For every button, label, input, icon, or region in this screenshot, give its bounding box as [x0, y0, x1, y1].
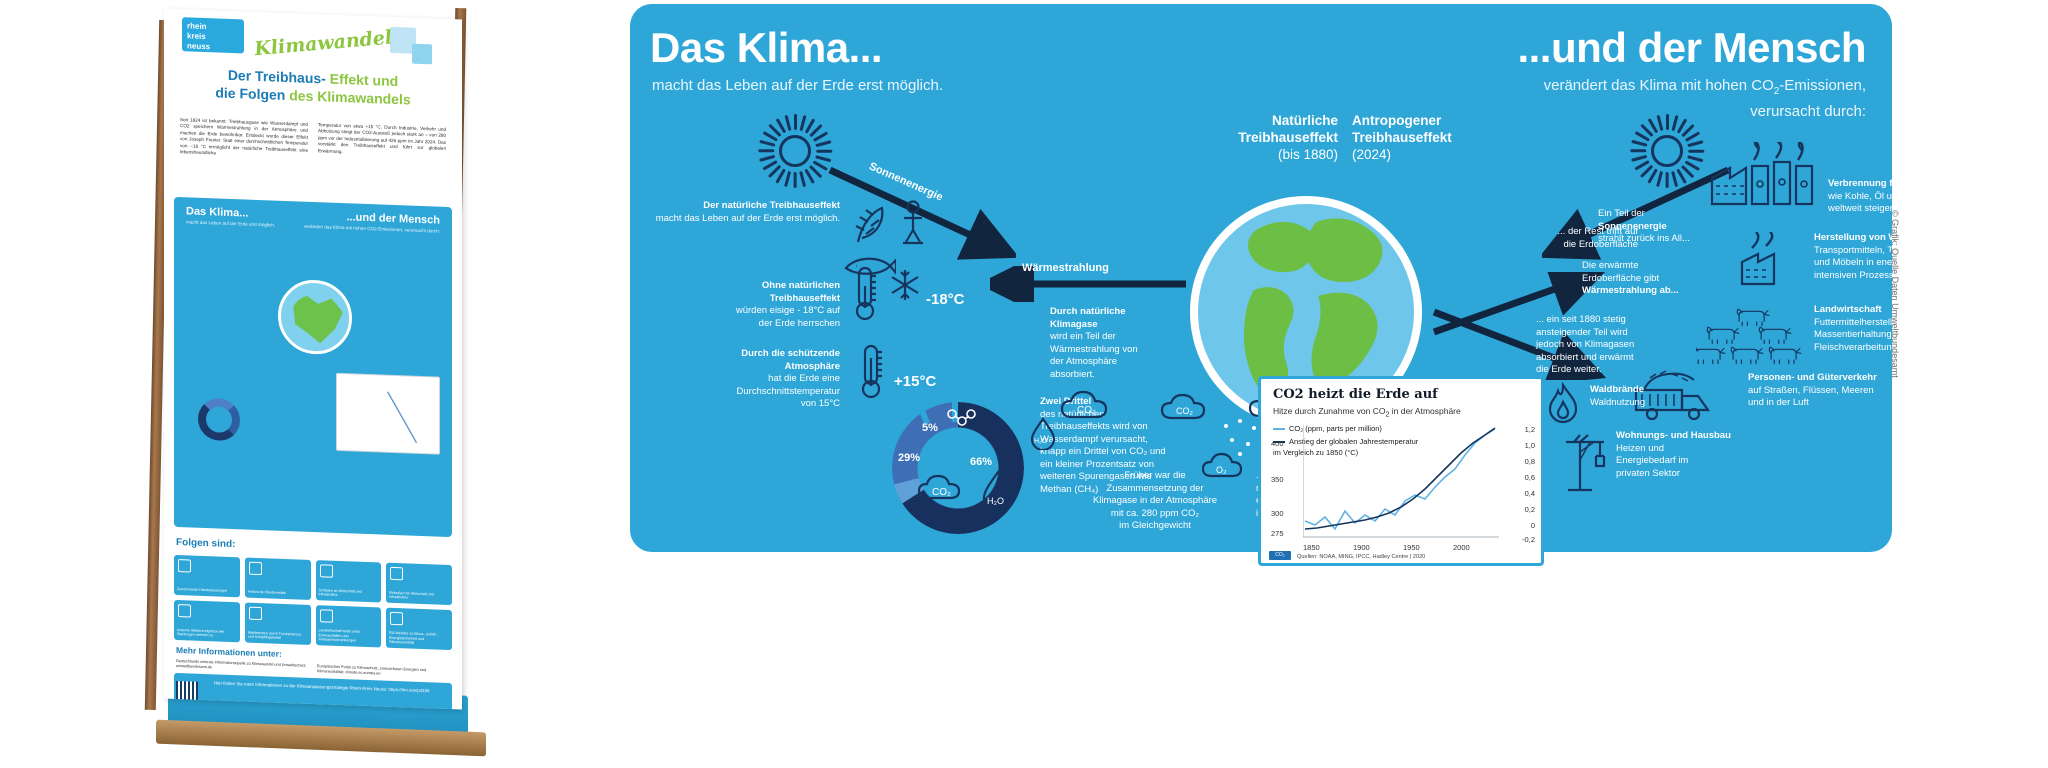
banner-tile: Verlust der Biodiversität — [245, 557, 311, 599]
t-nat-rest: macht das Leben auf der Erde erst möglic… — [656, 213, 840, 224]
source-line: Futtermittelherstellung und — [1814, 317, 1926, 328]
text-earlier-balance: Früher war die Zusammensetzung der Klima… — [1070, 470, 1240, 533]
cap-nat-2: Treibhauseffekt — [1238, 130, 1338, 145]
chart-subtitle-a: Hitze durch Zunahme von CO — [1273, 406, 1385, 416]
sub-left-text: macht das Leben auf der Erde erst möglic… — [652, 77, 943, 94]
banner-title-part4: des Klimawandels — [289, 87, 410, 107]
banner-panel-sub-left: macht das Leben auf der Erde erst möglic… — [186, 219, 275, 228]
banner-panel-heading-right: ...und der Mensch — [346, 211, 440, 226]
chart-plot — [1303, 425, 1499, 539]
source-line: Heizen und — [1616, 443, 1664, 454]
banner-tile: EU-Website zu Klima-, politik-, Energies… — [386, 608, 452, 650]
rhein-kreis-neuss-logo: rhein kreis neuss — [182, 17, 244, 53]
rollup-banner-photo: rhein kreis neuss Klimawandel Der Treibh… — [60, 0, 600, 768]
t-fr-3: Klimagase in der Atmosphäre — [1093, 495, 1217, 506]
chart-subtitle: Hitze durch Zunahme von CO2 in der Atmos… — [1273, 406, 1461, 419]
t-fr-5: im Gleichgewicht — [1119, 520, 1191, 531]
tile-icon — [390, 567, 403, 580]
ytick-right-0: 0 — [1531, 521, 1535, 530]
logo-line-3: neuss — [187, 41, 239, 53]
banner-title-part2: Effekt und — [330, 71, 398, 90]
source-line: wie Kohle, Öl und Gas für den — [1828, 191, 1955, 202]
t-atm-r3: von 15°C — [801, 398, 840, 409]
banner-tiles: Zunehmende Hitzebelastungen Verlust der … — [174, 555, 452, 650]
crane-icon — [1560, 432, 1610, 499]
sub-right-b: -Emissionen, — [1779, 77, 1866, 94]
infographic-sub-right: verändert das Klima mit hohen CO2-Emissi… — [1544, 76, 1866, 122]
t-atm-b2: Atmosphäre — [785, 361, 840, 372]
t-kg-b2: Klimagase — [1050, 319, 1098, 330]
banner-title: Der Treibhaus- Effekt und die Folgen des… — [182, 64, 444, 110]
donut-label-66: 66% — [970, 456, 992, 468]
donut-label-5: 5% — [922, 422, 938, 434]
t-ohne-b2: Treibhauseffekt — [770, 293, 840, 304]
thermometer-cold-icon — [852, 266, 878, 327]
banner-tile: extreme Wetterereignisse wie Starkregen … — [174, 600, 240, 642]
cattle-icon — [1696, 304, 1804, 369]
legend-swatch-co2 — [1273, 428, 1285, 430]
banner-title-part3: die Folgen — [215, 84, 285, 103]
t-s1-1: ... ein seit 1880 stetig — [1536, 314, 1626, 325]
text-warmed-surface: Die erwärmte Erdoberfläche gibt Wärmestr… — [1582, 260, 1732, 298]
banner-tile: Schäden an Wirtschaft und Infrastruktur — [316, 560, 382, 602]
ytick-right-1-0: 1,0 — [1525, 441, 1535, 450]
cap-ant-3: (2024) — [1352, 147, 1391, 162]
banner-tile: Waldsterben durch Trockenstress und Schä… — [245, 602, 311, 644]
co2-cloud-icon: CO₂ — [918, 474, 972, 509]
banner-chart-thumb — [336, 373, 440, 455]
banner-more-heading: Mehr Informationen unter: — [176, 645, 282, 659]
sun-icon-left — [758, 114, 832, 188]
source-item-forest-fires: Waldbrände Waldnutzung — [1590, 384, 1720, 409]
screenshot-root: rhein kreis neuss Klimawandel Der Treibh… — [0, 0, 2048, 768]
t-nat-bold: Der natürliche Treibhauseffekt — [703, 200, 840, 211]
source-title: Herstellung von Waren — [1814, 232, 1917, 243]
t-et-1: Ein Teil der — [1598, 208, 1645, 219]
banner-blue-panel: Das Klima... ...und der Mensch macht das… — [174, 197, 452, 537]
chart-source: Quellen: NOAA, MING, IPCC, Hadley Centre… — [1297, 554, 1425, 560]
tile-label: Verlust der Biodiversität — [248, 590, 308, 597]
t-rs-2: die Erdoberfläche — [1564, 239, 1638, 250]
t-fr-1: Früher war die — [1124, 470, 1185, 481]
t-s1-2: ansteigender Teil wird — [1536, 327, 1628, 338]
banner-folgen-heading: Folgen sind: — [176, 537, 235, 550]
h2o-droplet-small-icon: H₂O — [1028, 416, 1058, 455]
xtick-1900: 1900 — [1353, 543, 1370, 552]
t-kg-4: absorbiert. — [1050, 369, 1095, 380]
cap-nat-1: Natürliche — [1272, 113, 1338, 128]
ytick-right-neg: -0,2 — [1522, 535, 1535, 544]
series-temperature — [1305, 429, 1495, 529]
cap-ant-1: Antropogener — [1352, 113, 1441, 128]
tile-icon — [320, 609, 333, 622]
text-protective-atmosphere: Durch die schützende Atmosphäre hat die … — [640, 348, 840, 411]
banner-more-col-1: Deutschlands zentrale Informationsquelle… — [176, 659, 309, 674]
svg-text:CO₂: CO₂ — [1176, 406, 1194, 416]
ytick-right-0-2: 0,2 — [1525, 505, 1535, 514]
t-kg-1: wird ein Teil der — [1050, 331, 1116, 342]
t-fr-2: Zusammensetzung der — [1106, 483, 1203, 494]
tile-label: Einbußen für Wirtschaft und Infrastruktu… — [389, 591, 449, 602]
caption-anthropogenic-greenhouse: Antropogener Treibhauseffekt (2024) — [1352, 112, 1522, 163]
text-rest-hits-surface: ... der Rest trifft auf die Erdoberfläch… — [1492, 226, 1638, 251]
t-atm-r2: Durchschnittstemperatur — [737, 386, 840, 397]
sub-right-a: verändert das Klima mit hohen CO — [1544, 77, 1774, 94]
banner-donut-icon — [198, 398, 240, 442]
source-item-fossil-fuels: Verbrennung fossiler Brennstoff wie Kohl… — [1828, 178, 2008, 216]
t-kg-3: der Atmosphäre — [1050, 356, 1117, 367]
banner-body-col-2: Temperatur von etwa +15 °C. Durch Indust… — [318, 122, 446, 165]
infographic-heading-right: ...und der Mensch — [1517, 24, 1866, 72]
banner-tile: Landwirtschaft leidet unter Ernteausfäll… — [316, 605, 382, 647]
t-zd-4: knapp ein Drittel von CO₂ und — [1040, 446, 1166, 457]
source-item-agriculture: Landwirtschaft Futtermittelherstellung u… — [1814, 304, 1994, 354]
h2o-drop-icon: H₂O — [978, 468, 1018, 519]
banner-globe-icon — [278, 279, 352, 356]
sub-right-c: verursacht durch: — [1750, 103, 1866, 120]
source-line: Waldnutzung — [1590, 397, 1645, 408]
t-atm-b1: Durch die schützende — [741, 348, 840, 359]
source-title: Personen- und Güterverkehr — [1748, 372, 1877, 383]
source-line: Energiebedarf im — [1616, 455, 1688, 466]
tile-icon — [178, 604, 191, 617]
banner-body-col-1: Seit 1824 ist bekannt: Treibhausgase wie… — [180, 117, 308, 160]
donut-label-29: 29% — [898, 452, 920, 464]
banner-panel-heading-left: Das Klima... — [186, 205, 248, 219]
banner-tile: Zunehmende Hitzebelastungen — [174, 555, 240, 597]
t-ew-b: Wärmestrahlung ab... — [1582, 285, 1679, 296]
value-plus-15: +15°C — [894, 376, 936, 389]
t-ew-2: Erdoberfläche gibt — [1582, 273, 1659, 284]
t-fr-4: mit ca. 280 ppm CO₂ — [1111, 508, 1199, 519]
copyright-note: © Grafik: Quelle Daten Umweltbundesamt — [1890, 210, 1900, 378]
source-line: auf Straßen, Flüssen, Meeren — [1748, 385, 1874, 396]
banner-print: rhein kreis neuss Klimawandel Der Treibh… — [164, 9, 462, 710]
text-without-greenhouse: Ohne natürlichen Treibhauseffekt würden … — [640, 280, 840, 330]
chart-title-text: CO2 heizt die Erde auf — [1273, 387, 1438, 402]
thermometer-warm-icon — [858, 344, 884, 405]
text-natural-greenhouse: Der natürliche Treibhauseffekt macht das… — [640, 200, 840, 225]
infographic-sub-left: macht das Leben auf der Erde erst möglic… — [652, 76, 943, 96]
cap-nat-3: (bis 1880) — [1278, 147, 1338, 162]
t-ohne-r2: der Erde herrschen — [759, 318, 840, 329]
svg-text:CO₂: CO₂ — [1077, 405, 1096, 416]
t-kg-b1: Durch natürliche — [1050, 306, 1126, 317]
tile-label: Landwirtschaft leidet unter Ernteausfäll… — [319, 628, 379, 644]
tile-label: Schäden an Wirtschaft und Infrastruktur — [319, 588, 379, 599]
t-rs-1: ... der Rest trifft auf — [1557, 226, 1638, 237]
source-line: Fleischverarbeitung — [1814, 342, 1897, 353]
t-zd-5: ein kleiner Prozentsatz von — [1040, 459, 1154, 470]
banner-tile: Einbußen für Wirtschaft und Infrastruktu… — [386, 563, 452, 605]
infographic-heading-left: Das Klima... — [650, 24, 882, 72]
chart-subtitle-b: in der Atmosphäre — [1389, 406, 1460, 416]
xtick-1950: 1950 — [1403, 543, 1420, 552]
ytick-left-400: 400 — [1271, 439, 1284, 448]
deco-square-2 — [412, 44, 432, 65]
svg-text:CO₂: CO₂ — [932, 487, 951, 498]
source-line: Transportmitteln, Textilien — [1814, 245, 1922, 256]
t-s1-4: absorbiert und erwärmt — [1536, 352, 1634, 363]
fire-icon — [1546, 382, 1580, 431]
tile-icon — [178, 559, 191, 572]
text-natural-climate-gases: Durch natürliche Klimagase wird ein Teil… — [1050, 306, 1200, 381]
t-ew-1: Die erwärmte — [1582, 260, 1639, 271]
t-atm-r1: hat die Erde eine — [768, 373, 840, 384]
tile-label: EU-Website zu Klima-, politik-, Energies… — [389, 631, 449, 647]
snowflake-icon — [888, 268, 922, 307]
t-ohne-b1: Ohne natürlichen — [762, 280, 840, 291]
factory-small-icon — [1738, 232, 1800, 293]
source-title: Verbrennung fossiler Brennstoff — [1828, 178, 1974, 189]
co2-chart-card: CO2 heizt die Erde auf Hitze durch Zunah… — [1258, 376, 1544, 566]
value-minus-18: -18°C — [926, 294, 965, 307]
gas-cloud-co2-icon: CO₂ — [1060, 390, 1120, 429]
source-title: Wohnungs- und Hausbau — [1616, 430, 1731, 441]
tile-icon — [249, 562, 262, 575]
banner-script-word: Klimawandel — [253, 26, 393, 60]
cap-ant-2: Treibhauseffekt — [1352, 130, 1452, 145]
ytick-right-0-8: 0,8 — [1525, 457, 1535, 466]
ytick-right-1-2: 1,2 — [1525, 425, 1535, 434]
tile-label: Zunehmende Hitzebelastungen — [177, 587, 237, 594]
banner-title-part1: Der Treibhaus- — [228, 67, 326, 87]
gas-cloud-co2-icon-2: CO₂ — [1160, 392, 1216, 429]
svg-text:H₂O: H₂O — [987, 496, 1004, 506]
xtick-1850: 1850 — [1303, 543, 1320, 552]
chart-title: CO2 heizt die Erde auf — [1273, 387, 1438, 402]
source-line: Massentierhaltung sowie — [1814, 329, 1919, 340]
tile-icon — [320, 564, 333, 577]
ytick-left-275: 275 — [1271, 529, 1284, 538]
banner-more-col-2: Europäisches Portal zu Klimaschutz, erne… — [317, 664, 450, 679]
leaf-icon — [852, 204, 886, 249]
source-line: und in der Luft — [1748, 397, 1809, 408]
person-icon — [898, 200, 928, 251]
source-title: Landwirtschaft — [1814, 304, 1882, 315]
source-item-goods-production: Herstellung von Waren Transportmitteln, … — [1814, 232, 1994, 282]
ytick-left-350: 350 — [1271, 475, 1284, 484]
ytick-right-0-4: 0,4 — [1525, 489, 1535, 498]
t-s1-3: jedoch von Klimagasen — [1536, 339, 1634, 350]
source-item-housing: Wohnungs- und Hausbau Heizen und Energie… — [1616, 430, 1756, 480]
chart-logo: CO₂ — [1269, 551, 1291, 560]
xtick-2000: 2000 — [1453, 543, 1470, 552]
t-kg-2: Wärmestrahlung von — [1050, 344, 1138, 355]
svg-text:H₂O: H₂O — [1034, 438, 1048, 445]
tile-icon — [249, 607, 262, 620]
ytick-right-0-6: 0,6 — [1525, 473, 1535, 482]
tile-icon — [390, 612, 403, 625]
tile-label: Waldsterben durch Trockenstress und Schä… — [248, 630, 308, 641]
t-s1-5: die Erde weiter. — [1536, 364, 1601, 375]
trace-gas-molecule-icon — [946, 408, 976, 433]
label-waermestrahlung: Wärmestrahlung — [1022, 262, 1109, 275]
source-line: privaten Sektor — [1616, 468, 1680, 479]
source-title: Waldbrände — [1590, 384, 1644, 395]
factory-icon — [1708, 142, 1820, 213]
banner-footer-text: Hier finden Sie mehr Informationen zu de… — [214, 680, 446, 694]
series-co2 — [1305, 428, 1495, 529]
tile-label: extreme Wetterereignisse wie Starkregen … — [177, 628, 237, 639]
caption-natural-greenhouse: Natürliche Treibhauseffekt (bis 1880) — [1188, 112, 1338, 163]
source-item-transport: Personen- und Güterverkehr auf Straßen, … — [1748, 372, 1938, 410]
ytick-left-300: 300 — [1271, 509, 1284, 518]
t-ohne-r1: würden eisige - 18°C auf — [736, 305, 840, 316]
banner-body-columns: Seit 1824 ist bekannt: Treibhausgase wie… — [180, 117, 446, 165]
